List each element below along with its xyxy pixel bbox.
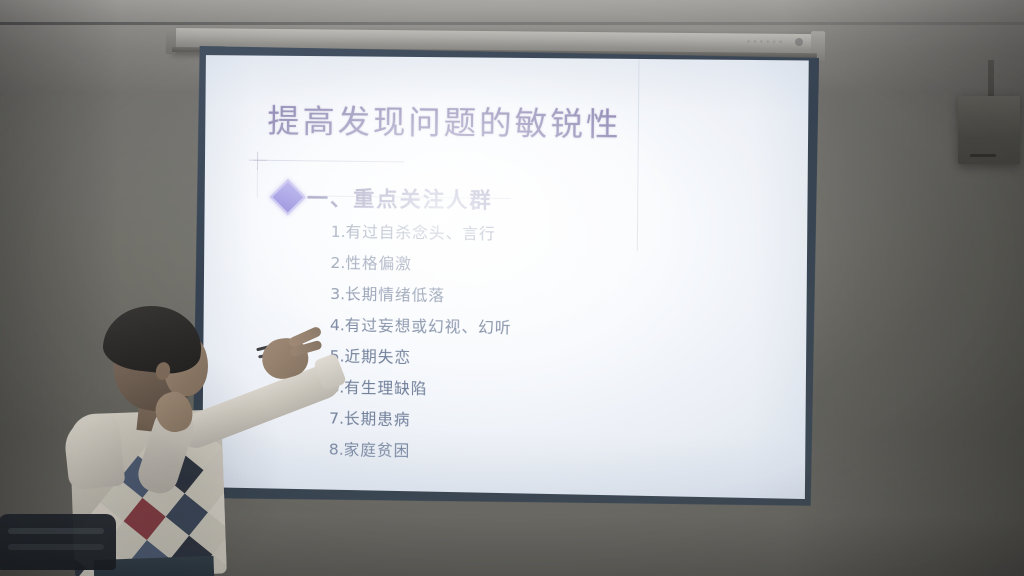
list-item-number: 1. (331, 223, 346, 241)
section-heading-label: 一、重点关注人群 (307, 182, 493, 214)
roller-knob[interactable] (795, 38, 803, 46)
slide-title: 提高发现问题的敏锐性 (267, 104, 621, 143)
list-item-text: 长期情绪低落 (345, 285, 445, 305)
title-underline-decoration (253, 160, 404, 163)
list-item-text: 有过妄想或幻视、幻听 (345, 316, 512, 337)
list-item-number: 2. (330, 254, 345, 272)
chair-slot (8, 528, 104, 534)
wall-unit-conduit (988, 60, 994, 100)
section-heading-row: 一、重点关注人群 (275, 182, 493, 215)
list-item-text: 性格偏激 (345, 254, 412, 273)
chair-backrest (0, 514, 116, 570)
chair-slot (8, 544, 104, 550)
chair (0, 504, 124, 576)
roller-brand-text: * * * * * * (747, 41, 783, 47)
wall-mounted-unit (958, 96, 1020, 164)
title-crosshair-horizontal (249, 160, 267, 161)
presenter-shoulder (62, 415, 125, 490)
classroom-presentation-photo: * * * * * * 提高发现问题的敏锐性 一、重点关注人群 (0, 0, 1024, 576)
diamond-bullet-icon (269, 179, 306, 216)
list-item-text: 有过自杀念头、言行 (346, 223, 496, 243)
list-item: 2.性格偏激 (330, 256, 512, 274)
title-vertical-accent (257, 168, 258, 198)
list-item: 1.有过自杀念头、言行 (331, 225, 513, 243)
